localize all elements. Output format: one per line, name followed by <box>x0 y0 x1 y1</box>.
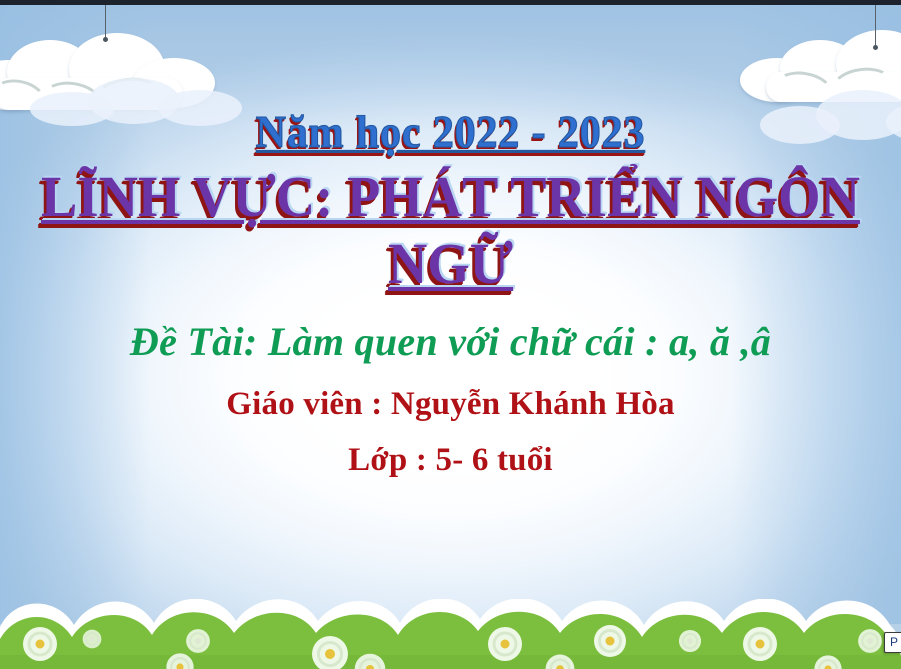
school-year-line: Năm học 2022 - 2023 <box>0 106 901 158</box>
presentation-slide: Năm học 2022 - 2023 LĨNH VỰC: PHÁT TRIỂN… <box>0 0 901 669</box>
grass-flower-border <box>0 599 901 669</box>
subject-area-text: LĨNH VỰC: PHÁT TRIỂN NGÔN NGỮ <box>27 163 874 297</box>
grass-svg <box>0 599 901 669</box>
top-edge-bar <box>0 0 901 5</box>
teacher-text: Giáo viên : Nguyễn Khánh Hòa <box>226 386 674 422</box>
subject-area-line: LĨNH VỰC: PHÁT TRIỂN NGÔN NGỮ <box>0 163 901 297</box>
flower <box>858 629 882 653</box>
topic-text: Đề Tài: Làm quen với chữ cái : a, ă ,â <box>130 319 771 364</box>
topic-line: Đề Tài: Làm quen với chữ cái : a, ă ,â <box>0 318 901 365</box>
edge-tooltip[interactable]: P <box>884 632 901 653</box>
hanging-string-left <box>105 4 106 38</box>
teacher-line: Giáo viên : Nguyễn Khánh Hòa <box>0 386 901 423</box>
hanging-string-right <box>875 4 876 46</box>
flower <box>679 630 701 652</box>
class-text: Lớp : 5- 6 tuổi <box>348 442 553 478</box>
flower <box>594 625 626 657</box>
flower <box>83 630 102 649</box>
school-year-text: Năm học 2022 - 2023 <box>256 106 646 158</box>
class-line: Lớp : 5- 6 tuổi <box>0 442 901 479</box>
flower <box>488 627 522 661</box>
flower <box>23 627 57 661</box>
flower <box>743 627 777 661</box>
flower <box>186 629 210 653</box>
